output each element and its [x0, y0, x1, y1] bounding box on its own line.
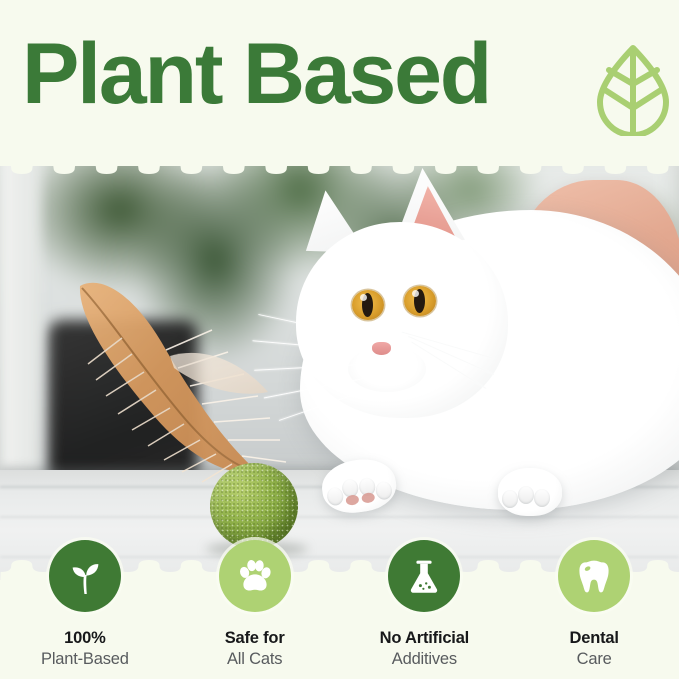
feature-label: 100% Plant-Based [41, 628, 129, 670]
product-feature-card: Plant Based [0, 0, 679, 679]
leaf-icon [596, 40, 670, 136]
sprout-icon [65, 556, 105, 596]
feature-label: Dental Care [570, 628, 619, 670]
feature-circle [558, 540, 630, 612]
feature-label-line1: No Artificial [380, 628, 469, 649]
page-title: Plant Based [22, 31, 490, 117]
feature-badges: 100% Plant-Based Safe for A [0, 540, 679, 679]
product-photo [0, 150, 679, 590]
paw-print-icon [235, 556, 275, 596]
catnip-ball-texture [210, 463, 298, 549]
feature-label-line2: Care [570, 649, 619, 670]
header-banner: Plant Based [0, 0, 679, 166]
feature-circle [388, 540, 460, 612]
cat-paw-back [498, 468, 562, 516]
feature-circle [219, 540, 291, 612]
feature-label-line1: Safe for [225, 628, 285, 649]
feature-item-plant-based[interactable]: 100% Plant-Based [0, 540, 170, 679]
feature-label-line1: 100% [41, 628, 129, 649]
feature-item-no-additives[interactable]: No Artificial Additives [340, 540, 510, 679]
tooth-icon [574, 556, 614, 596]
feature-label: No Artificial Additives [380, 628, 469, 670]
flask-icon [404, 556, 444, 596]
feather-toy [62, 268, 322, 508]
feature-item-safe-for-cats[interactable]: Safe for All Cats [170, 540, 340, 679]
feature-label-line1: Dental [570, 628, 619, 649]
feature-label-line2: Plant-Based [41, 649, 129, 670]
feature-circle [49, 540, 121, 612]
feature-label-line2: All Cats [225, 649, 285, 670]
feature-item-dental-care[interactable]: Dental Care [509, 540, 679, 679]
feature-label-line2: Additives [380, 649, 469, 670]
feature-label: Safe for All Cats [225, 628, 285, 670]
